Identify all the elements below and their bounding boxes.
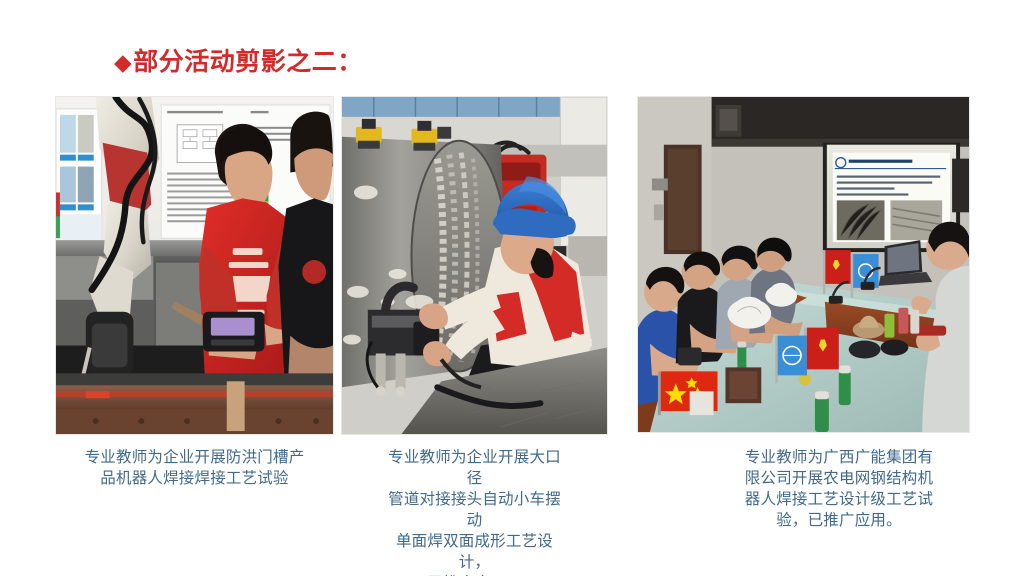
photo-caption-3: 专业教师为广西广能集团有 限公司开展农电网钢结构机 器人焊接工艺设计级工艺试 验… <box>726 447 952 531</box>
photo-pipe-trolley-welding <box>341 96 608 435</box>
caption-line: 品机器人焊接焊接工艺试验 <box>48 468 341 489</box>
caption-line: 验，已推广应用。 <box>726 510 952 531</box>
photo-card-3 <box>637 96 970 433</box>
caption-line: 限公司开展农电网钢结构机 <box>726 468 952 489</box>
caption-line: 专业教师为企业开展大口径 <box>383 447 566 489</box>
photo-caption-1: 专业教师为企业开展防洪门槽产 品机器人焊接焊接工艺试验 <box>48 447 341 489</box>
photo-card-2 <box>341 96 608 435</box>
caption-line: 专业教师为企业开展防洪门槽产 <box>48 447 341 468</box>
caption-line: 单面焊双面成形工艺设计， <box>383 531 566 573</box>
photo-gallery: 专业教师为企业开展防洪门槽产 品机器人焊接焊接工艺试验 <box>0 0 1024 576</box>
caption-line: 器人焊接工艺设计级工艺试 <box>726 489 952 510</box>
photo-caption-2: 专业教师为企业开展大口径 管道对接接头自动小车摆动 单面焊双面成形工艺设计， 已… <box>383 447 566 576</box>
caption-line: 专业教师为广西广能集团有 <box>726 447 952 468</box>
photo-card-1 <box>55 96 334 435</box>
photo-conference-meeting <box>637 96 970 433</box>
photo-robot-welding-training <box>55 96 334 435</box>
caption-line: 管道对接接头自动小车摆动 <box>383 489 566 531</box>
slide-canvas: ◆部分活动剪影之二： <box>0 0 1024 576</box>
